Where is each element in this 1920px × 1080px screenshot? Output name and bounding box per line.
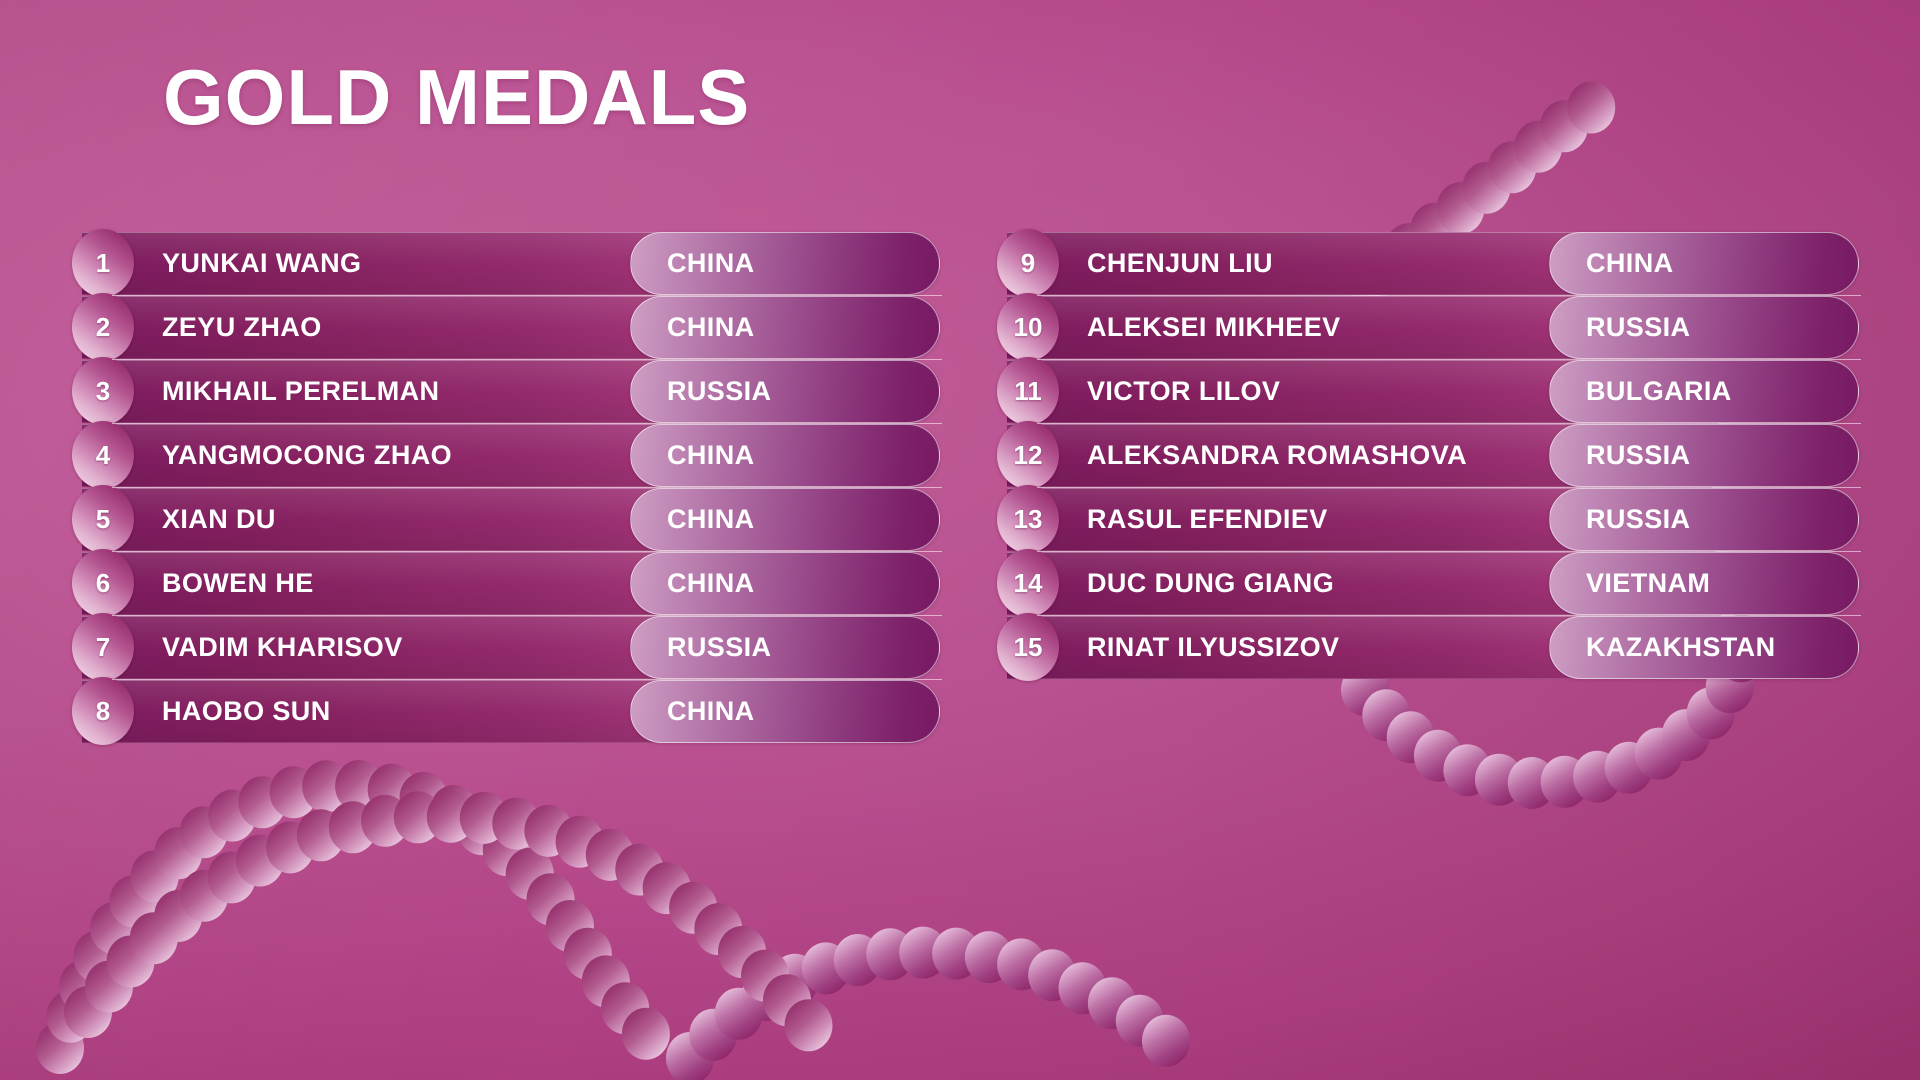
medal-row[interactable]: 12ALEKSANDRA ROMASHOVARUSSIA bbox=[1007, 424, 1877, 487]
medal-row[interactable]: 3MIKHAIL PERELMANRUSSIA bbox=[82, 360, 962, 423]
row-separator bbox=[112, 359, 942, 360]
rank-badge: 4 bbox=[72, 421, 134, 489]
medals-board: GOLD MEDALS 1YUNKAI WANGCHINA2ZEYU ZHAOC… bbox=[0, 0, 1920, 1080]
country-pill: CHINA bbox=[630, 424, 940, 487]
athlete-name: DUC DUNG GIANG bbox=[1087, 552, 1334, 615]
rank-badge: 8 bbox=[72, 677, 134, 745]
rank-number: 2 bbox=[72, 293, 134, 361]
athlete-name: CHENJUN LIU bbox=[1087, 232, 1273, 295]
medal-row[interactable]: 15RINAT ILYUSSIZOVKAZAKHSTAN bbox=[1007, 616, 1877, 679]
row-separator bbox=[1037, 615, 1861, 616]
country-name: RUSSIA bbox=[1550, 425, 1858, 486]
rank-number: 8 bbox=[72, 677, 134, 745]
country-name: RUSSIA bbox=[1550, 489, 1858, 550]
rank-number: 5 bbox=[72, 485, 134, 553]
medal-row[interactable]: 5XIAN DUCHINA bbox=[82, 488, 962, 551]
country-name: RUSSIA bbox=[631, 617, 939, 678]
rank-badge: 3 bbox=[72, 357, 134, 425]
country-pill: CHINA bbox=[1549, 232, 1859, 295]
athlete-name: ZEYU ZHAO bbox=[162, 296, 322, 359]
country-name: KAZAKHSTAN bbox=[1550, 617, 1858, 678]
country-name: CHINA bbox=[631, 233, 939, 294]
medal-row[interactable]: 10ALEKSEI MIKHEEVRUSSIA bbox=[1007, 296, 1877, 359]
athlete-name: HAOBO SUN bbox=[162, 680, 331, 743]
country-pill: CHINA bbox=[630, 232, 940, 295]
rank-number: 13 bbox=[997, 485, 1059, 553]
country-name: RUSSIA bbox=[631, 361, 939, 422]
athlete-name: MIKHAIL PERELMAN bbox=[162, 360, 439, 423]
athlete-name: RASUL EFENDIEV bbox=[1087, 488, 1328, 551]
athlete-name: ALEKSEI MIKHEEV bbox=[1087, 296, 1341, 359]
medal-list-left-column: 1YUNKAI WANGCHINA2ZEYU ZHAOCHINA3MIKHAIL… bbox=[82, 232, 962, 744]
country-pill: CHINA bbox=[630, 296, 940, 359]
country-name: VIETNAM bbox=[1550, 553, 1858, 614]
country-name: CHINA bbox=[1550, 233, 1858, 294]
medal-list-right-column: 9CHENJUN LIUCHINA10ALEKSEI MIKHEEVRUSSIA… bbox=[1007, 232, 1877, 680]
rank-badge: 13 bbox=[997, 485, 1059, 553]
country-pill: CHINA bbox=[630, 680, 940, 743]
rank-number: 4 bbox=[72, 421, 134, 489]
medal-row[interactable]: 9CHENJUN LIUCHINA bbox=[1007, 232, 1877, 295]
country-pill: RUSSIA bbox=[1549, 424, 1859, 487]
row-separator bbox=[112, 615, 942, 616]
athlete-name: ALEKSANDRA ROMASHOVA bbox=[1087, 424, 1467, 487]
row-separator bbox=[112, 487, 942, 488]
medal-row[interactable]: 8HAOBO SUNCHINA bbox=[82, 680, 962, 743]
rank-badge: 10 bbox=[997, 293, 1059, 361]
rank-number: 12 bbox=[997, 421, 1059, 489]
country-pill: VIETNAM bbox=[1549, 552, 1859, 615]
athlete-name: YUNKAI WANG bbox=[162, 232, 361, 295]
country-pill: RUSSIA bbox=[630, 616, 940, 679]
row-separator bbox=[1037, 487, 1861, 488]
athlete-name: BOWEN HE bbox=[162, 552, 314, 615]
country-pill: RUSSIA bbox=[1549, 488, 1859, 551]
rank-badge: 14 bbox=[997, 549, 1059, 617]
rank-number: 6 bbox=[72, 549, 134, 617]
country-name: CHINA bbox=[631, 489, 939, 550]
row-separator bbox=[1037, 423, 1861, 424]
rank-badge: 1 bbox=[72, 229, 134, 297]
medal-row[interactable]: 11VICTOR LILOVBULGARIA bbox=[1007, 360, 1877, 423]
row-separator bbox=[1037, 551, 1861, 552]
country-name: CHINA bbox=[631, 297, 939, 358]
athlete-name: VICTOR LILOV bbox=[1087, 360, 1280, 423]
country-name: CHINA bbox=[631, 553, 939, 614]
rank-badge: 12 bbox=[997, 421, 1059, 489]
athlete-name: RINAT ILYUSSIZOV bbox=[1087, 616, 1339, 679]
rank-number: 3 bbox=[72, 357, 134, 425]
row-separator bbox=[112, 679, 942, 680]
country-pill: RUSSIA bbox=[1549, 296, 1859, 359]
country-name: CHINA bbox=[631, 425, 939, 486]
medal-row[interactable]: 4YANGMOCONG ZHAOCHINA bbox=[82, 424, 962, 487]
country-name: CHINA bbox=[631, 681, 939, 742]
medal-row[interactable]: 14DUC DUNG GIANGVIETNAM bbox=[1007, 552, 1877, 615]
rank-number: 14 bbox=[997, 549, 1059, 617]
row-separator bbox=[112, 423, 942, 424]
country-pill: RUSSIA bbox=[630, 360, 940, 423]
rank-badge: 15 bbox=[997, 613, 1059, 681]
row-separator bbox=[1037, 359, 1861, 360]
rank-number: 9 bbox=[997, 229, 1059, 297]
rank-badge: 11 bbox=[997, 357, 1059, 425]
rank-number: 7 bbox=[72, 613, 134, 681]
rank-badge: 5 bbox=[72, 485, 134, 553]
rank-badge: 7 bbox=[72, 613, 134, 681]
medal-row[interactable]: 2ZEYU ZHAOCHINA bbox=[82, 296, 962, 359]
page-title: GOLD MEDALS bbox=[163, 58, 750, 136]
row-separator bbox=[112, 295, 942, 296]
country-name: BULGARIA bbox=[1550, 361, 1858, 422]
country-name: RUSSIA bbox=[1550, 297, 1858, 358]
rank-badge: 6 bbox=[72, 549, 134, 617]
country-pill: KAZAKHSTAN bbox=[1549, 616, 1859, 679]
athlete-name: VADIM KHARISOV bbox=[162, 616, 403, 679]
athlete-name: XIAN DU bbox=[162, 488, 276, 551]
rank-badge: 2 bbox=[72, 293, 134, 361]
rank-number: 15 bbox=[997, 613, 1059, 681]
rank-number: 10 bbox=[997, 293, 1059, 361]
rank-number: 1 bbox=[72, 229, 134, 297]
medal-row[interactable]: 6BOWEN HECHINA bbox=[82, 552, 962, 615]
medal-row[interactable]: 13RASUL EFENDIEVRUSSIA bbox=[1007, 488, 1877, 551]
medal-row[interactable]: 7VADIM KHARISOVRUSSIA bbox=[82, 616, 962, 679]
row-separator bbox=[1037, 295, 1861, 296]
country-pill: BULGARIA bbox=[1549, 360, 1859, 423]
rank-badge: 9 bbox=[997, 229, 1059, 297]
athlete-name: YANGMOCONG ZHAO bbox=[162, 424, 452, 487]
row-separator bbox=[112, 551, 942, 552]
rank-number: 11 bbox=[997, 357, 1059, 425]
country-pill: CHINA bbox=[630, 488, 940, 551]
medal-row[interactable]: 1YUNKAI WANGCHINA bbox=[82, 232, 962, 295]
country-pill: CHINA bbox=[630, 552, 940, 615]
